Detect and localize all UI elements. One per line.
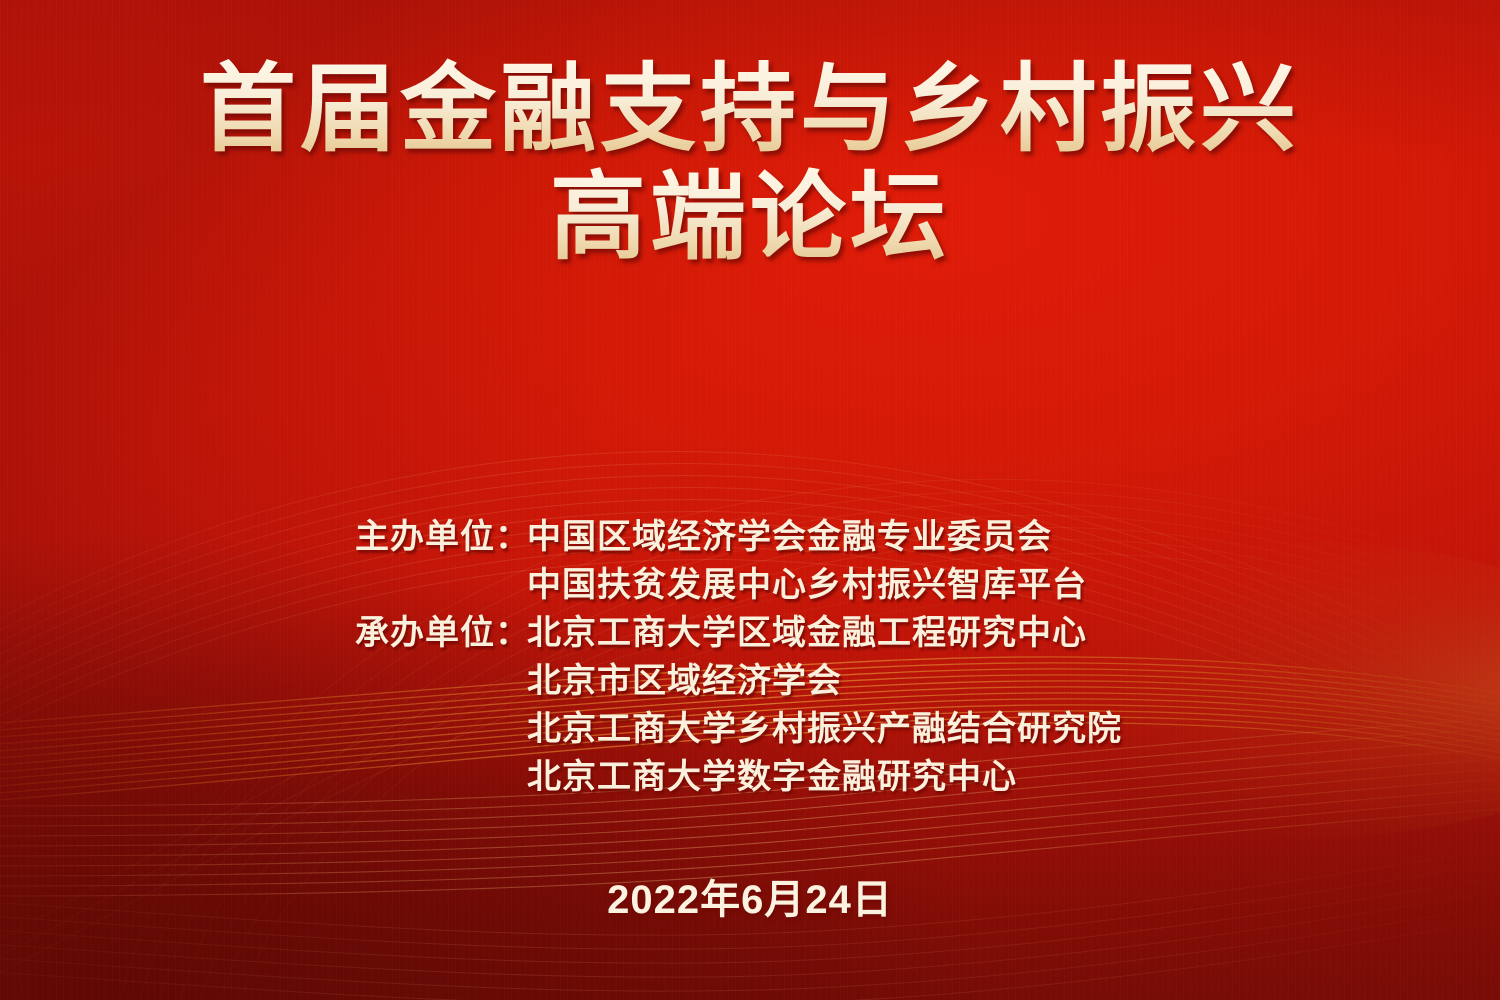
title-line-2: 高端论坛 bbox=[0, 164, 1500, 272]
organizer-row-4: 承办单位： 北京工商大学数字金融研究中心 bbox=[355, 753, 1215, 801]
event-date: 2022年6月24日 bbox=[0, 874, 1500, 926]
organizer-unit-4: 北京工商大学数字金融研究中心 bbox=[527, 753, 1017, 801]
organizer-row-1: 承办单位： 北京工商大学区域金融工程研究中心 bbox=[355, 609, 1215, 657]
host-label: 主办单位： bbox=[355, 513, 527, 561]
host-row-1: 主办单位： 中国区域经济学会金融专业委员会 bbox=[355, 513, 1215, 561]
organizer-unit-3: 北京工商大学乡村振兴产融结合研究院 bbox=[527, 705, 1122, 753]
organizer-block: 主办单位： 中国区域经济学会金融专业委员会 主办单位： 中国扶贫发展中心乡村振兴… bbox=[355, 513, 1215, 801]
host-row-2: 主办单位： 中国扶贫发展中心乡村振兴智库平台 bbox=[355, 561, 1215, 609]
organizer-label: 承办单位： bbox=[355, 609, 527, 657]
conference-poster: 首届金融支持与乡村振兴 高端论坛 主办单位： 中国区域经济学会金融专业委员会 主… bbox=[0, 0, 1500, 1000]
organizer-unit-2: 北京市区域经济学会 bbox=[527, 657, 842, 705]
title-line-1: 首届金融支持与乡村振兴 bbox=[0, 56, 1500, 164]
organizer-row-3: 承办单位： 北京工商大学乡村振兴产融结合研究院 bbox=[355, 705, 1215, 753]
organizer-row-2: 承办单位： 北京市区域经济学会 bbox=[355, 657, 1215, 705]
host-unit-2: 中国扶贫发展中心乡村振兴智库平台 bbox=[527, 561, 1087, 609]
host-unit-1: 中国区域经济学会金融专业委员会 bbox=[527, 513, 1052, 561]
poster-title: 首届金融支持与乡村振兴 高端论坛 bbox=[0, 56, 1500, 272]
organizer-unit-1: 北京工商大学区域金融工程研究中心 bbox=[527, 609, 1087, 657]
